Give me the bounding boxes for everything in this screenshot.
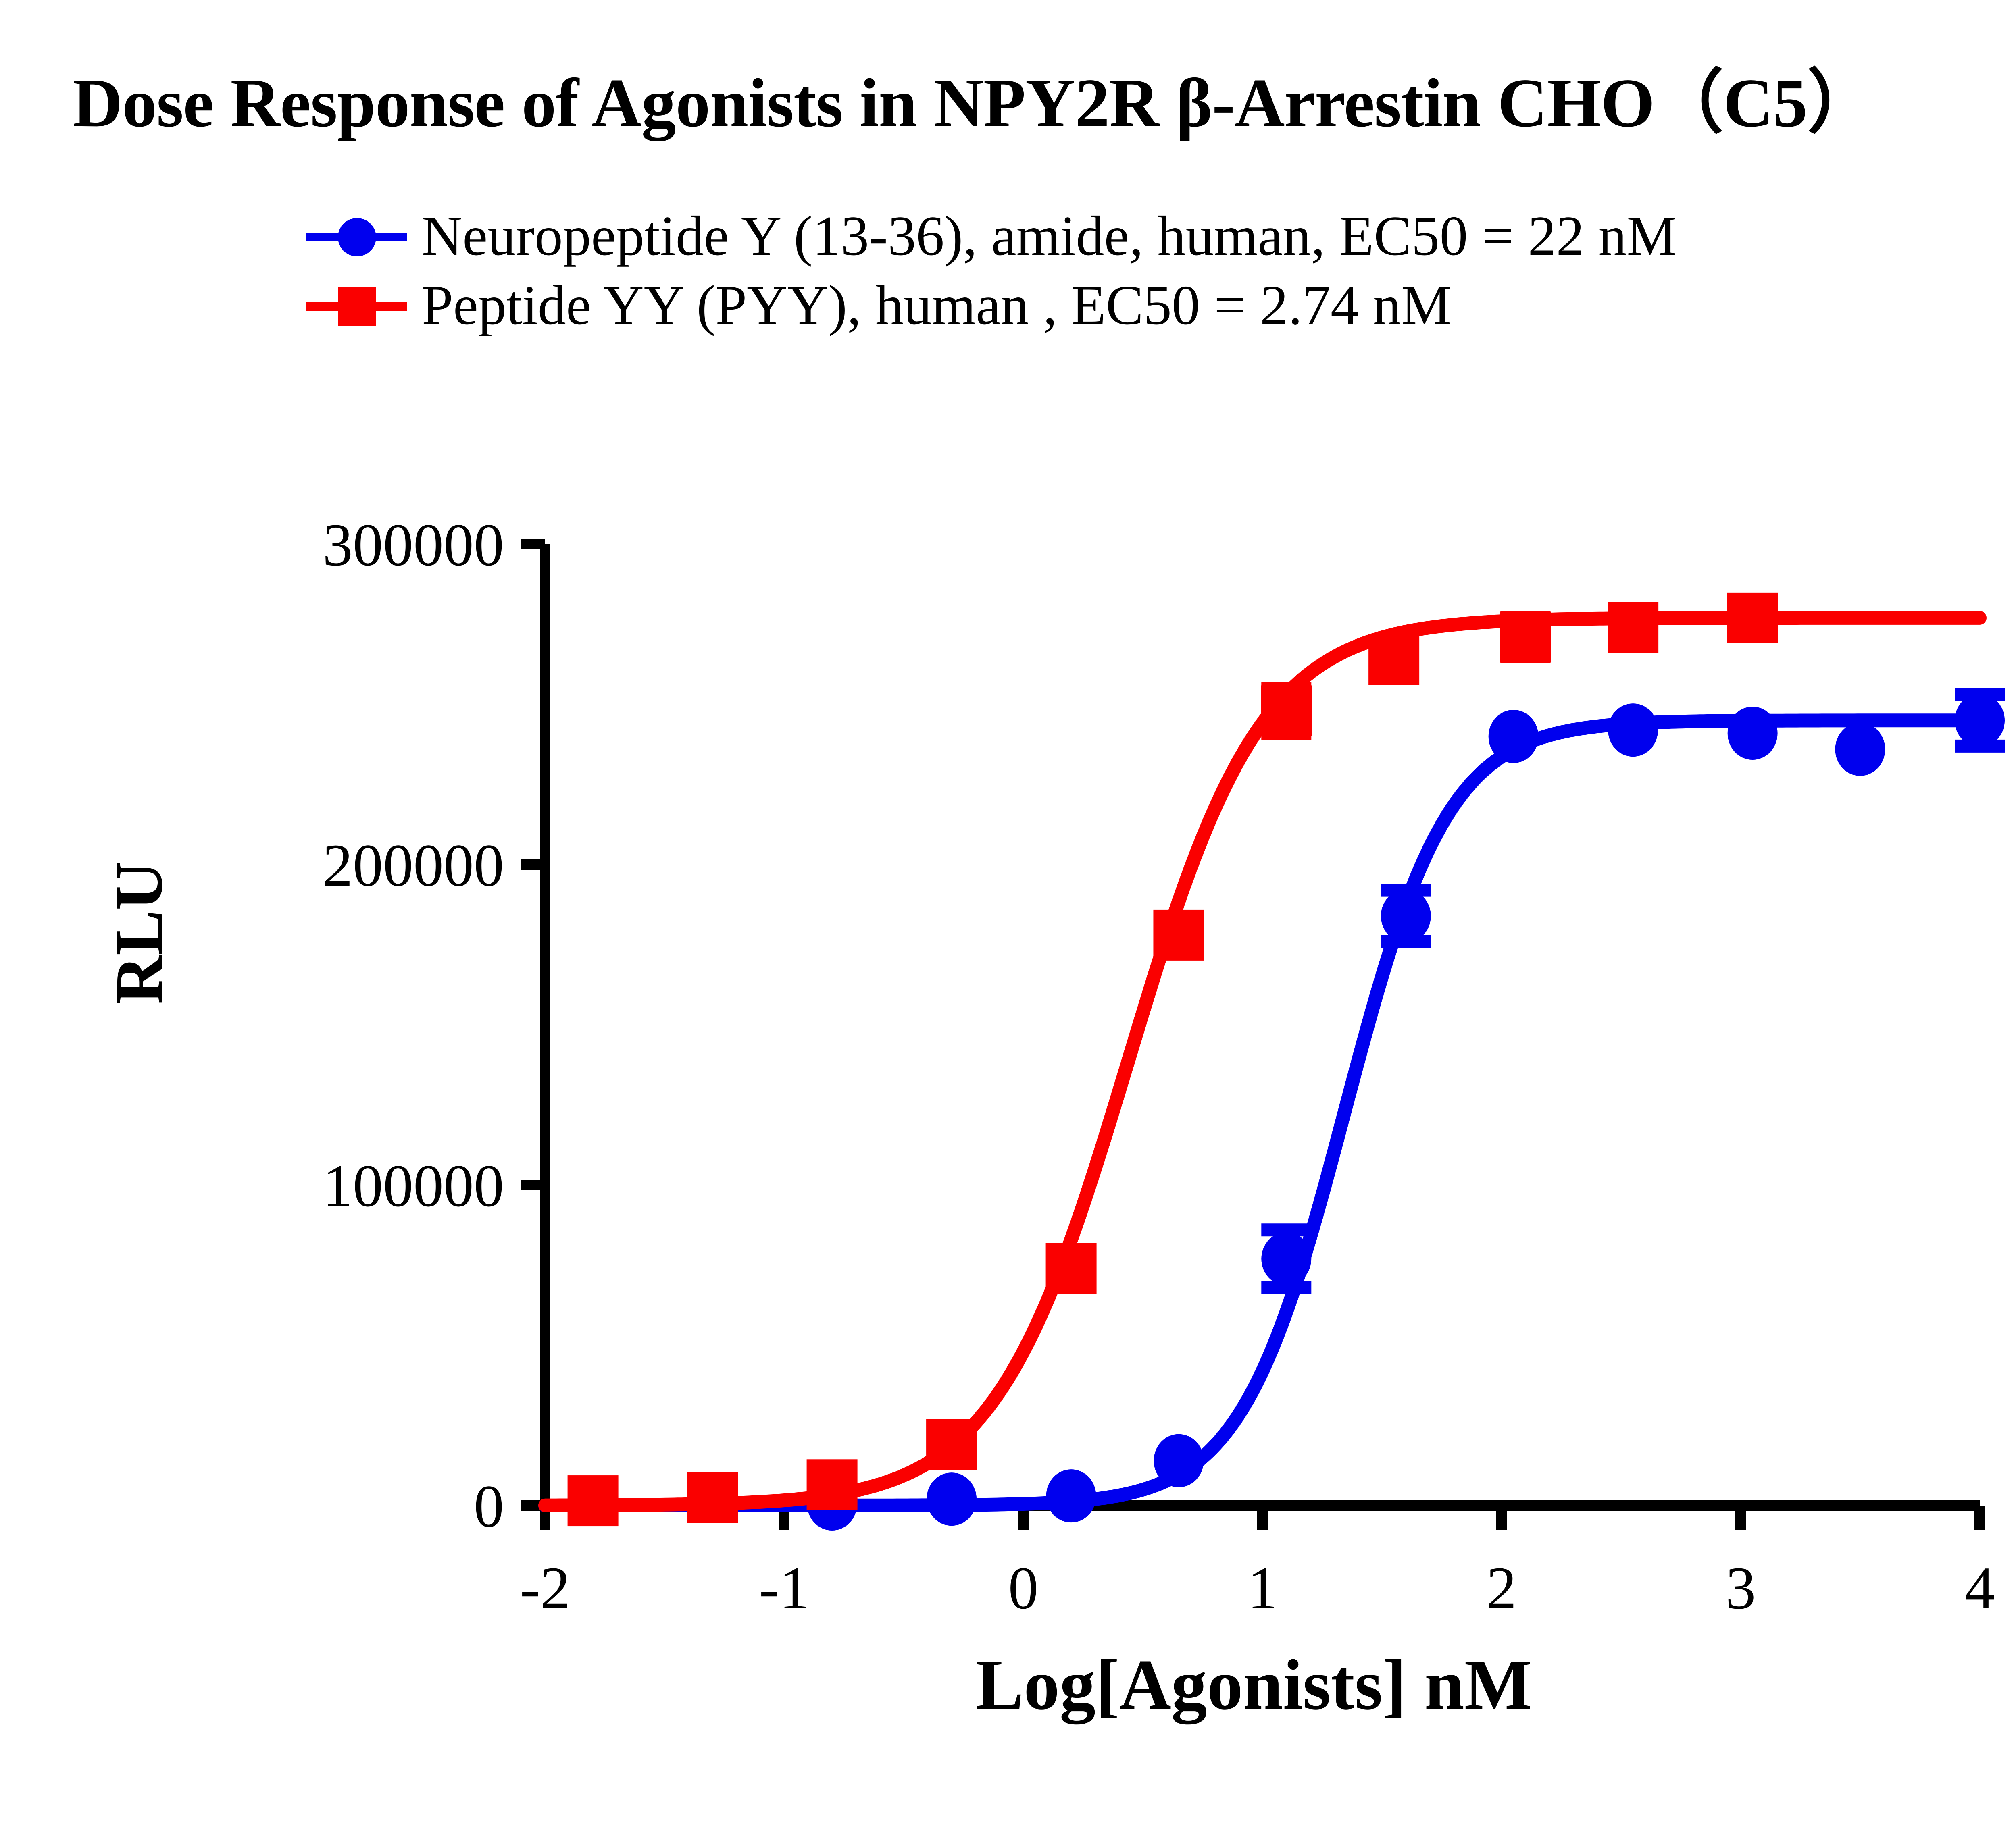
- plot-svg: 0100000200000300000-2-101234: [0, 0, 2016, 1826]
- series-npy: [545, 694, 2005, 1531]
- data-point-square[interactable]: [1727, 593, 1778, 643]
- x-tick-label: -2: [520, 1555, 571, 1622]
- data-point-square[interactable]: [1608, 602, 1658, 653]
- data-point-circle[interactable]: [1261, 1232, 1311, 1285]
- data-point-square[interactable]: [926, 1419, 977, 1470]
- fit-curve: [545, 720, 1980, 1506]
- data-point-circle[interactable]: [1489, 710, 1539, 763]
- x-tick-label: -1: [759, 1555, 810, 1622]
- y-tick-label: 200000: [323, 832, 504, 899]
- data-point-square[interactable]: [1500, 612, 1551, 663]
- x-tick-label: 1: [1248, 1555, 1278, 1622]
- data-point-square[interactable]: [1368, 634, 1419, 685]
- data-point-square[interactable]: [1153, 910, 1204, 961]
- data-point-square[interactable]: [807, 1459, 858, 1510]
- data-point-circle[interactable]: [1154, 1434, 1204, 1487]
- data-point-square[interactable]: [1261, 685, 1312, 736]
- y-tick-label: 100000: [323, 1152, 504, 1219]
- data-point-circle[interactable]: [927, 1472, 977, 1526]
- data-point-square[interactable]: [568, 1475, 619, 1526]
- x-tick-label: 3: [1726, 1555, 1756, 1622]
- data-point-square[interactable]: [1046, 1243, 1097, 1294]
- x-tick-label: 2: [1487, 1555, 1517, 1622]
- data-point-circle[interactable]: [1728, 707, 1778, 760]
- x-axis-label: Log[Agonists] nM: [504, 1649, 2004, 1720]
- y-tick-label: 300000: [323, 512, 504, 578]
- data-point-circle[interactable]: [1955, 694, 2005, 747]
- data-point-circle[interactable]: [1835, 723, 1885, 776]
- x-tick-label: 0: [1008, 1555, 1039, 1622]
- data-point-circle[interactable]: [1046, 1469, 1096, 1522]
- data-point-circle[interactable]: [1608, 703, 1658, 757]
- series-layer: [545, 593, 2005, 1531]
- data-point-circle[interactable]: [1381, 889, 1431, 942]
- figure-root: Dose Response of Agonists in NPY2R β-Arr…: [0, 0, 2016, 1826]
- plot-area: 0100000200000300000-2-101234: [0, 0, 2016, 1826]
- x-tick-label: 4: [1965, 1555, 1995, 1622]
- data-point-square[interactable]: [687, 1472, 738, 1523]
- y-tick-label: 0: [474, 1473, 504, 1540]
- y-axis-label: RLU: [105, 772, 173, 1094]
